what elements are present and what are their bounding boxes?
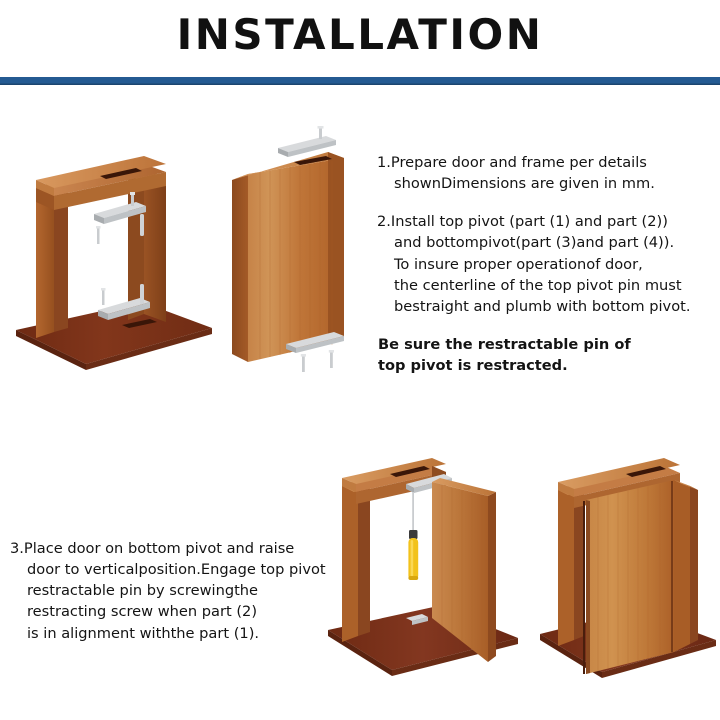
figure-frame-with-hardware (14, 132, 214, 372)
door-slab-illustration (222, 126, 387, 374)
strike-jamb (558, 484, 584, 646)
title-rule-shape (0, 77, 720, 85)
title-divider-rule (0, 70, 720, 78)
screwdriver-ferrule (409, 530, 418, 539)
instructions-right-column: 1.Prepare door and frame per details sho… (377, 152, 717, 376)
instruction-step-1: 1.Prepare door and frame per details sho… (377, 152, 717, 194)
door-panel (232, 152, 344, 362)
screwdriver (408, 492, 418, 580)
installation-sheet: INSTALLATION (0, 0, 720, 720)
instructions-left-column: 3.Place door on bottom pivot and raise d… (10, 538, 350, 644)
door-panel-closed (584, 480, 674, 674)
instruction-note-restractable-pin: Be sure the restractable pin of top pivo… (377, 334, 717, 376)
frame-hardware-illustration (14, 132, 214, 372)
door-closed-illustration (540, 448, 720, 682)
instruction-step-2: 2.Install top pivot (part (1) and part (… (377, 211, 717, 317)
instruction-step-3: 3.Place door on bottom pivot and raise d… (10, 538, 350, 644)
hinge-jamb (674, 480, 698, 652)
figure-door-closed-in-frame (540, 448, 720, 682)
screwdriver-shaft (412, 492, 414, 532)
page-title: INSTALLATION (177, 14, 544, 56)
figure-door-open-with-screwdriver (328, 448, 558, 682)
screwdriver-handle (408, 538, 418, 580)
sheet-header: INSTALLATION (0, 0, 720, 70)
figure-door-slab (222, 126, 387, 374)
door-open-illustration (328, 448, 558, 682)
